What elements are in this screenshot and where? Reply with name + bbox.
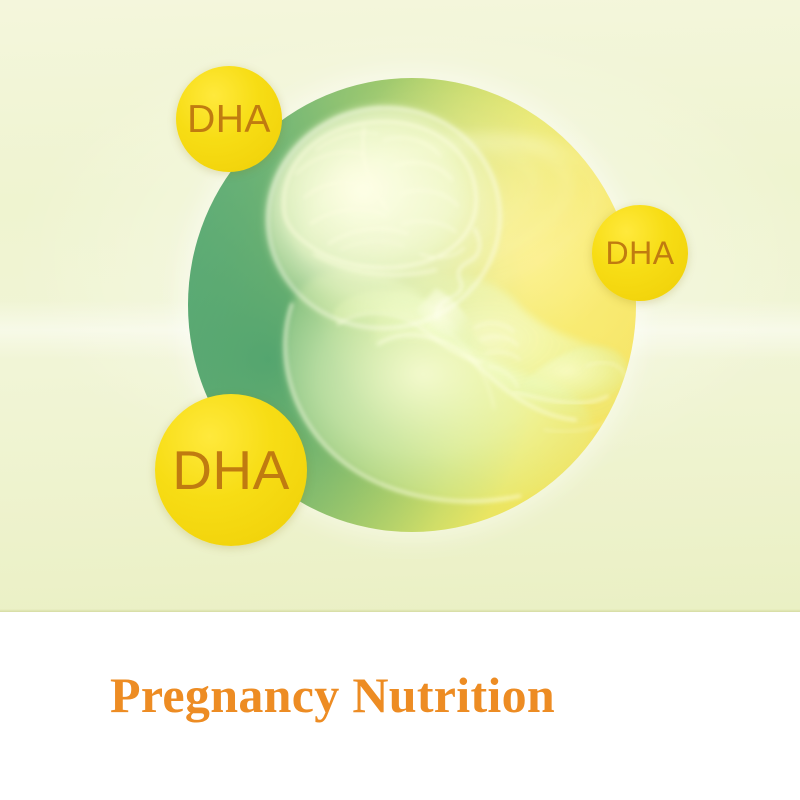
dha-badge-bottom-left[interactable]: DHA (155, 394, 307, 546)
caption-area: Pregnancy Nutrition (0, 612, 800, 800)
dha-badge-top-left[interactable]: DHA (176, 66, 282, 172)
product-image-canvas: DHA DHA DHA Pregnancy Nutrition (0, 0, 800, 800)
dha-badge-right[interactable]: DHA (592, 205, 688, 301)
hero-panel: DHA DHA DHA (0, 0, 800, 612)
page-title: Pregnancy Nutrition (110, 670, 555, 720)
